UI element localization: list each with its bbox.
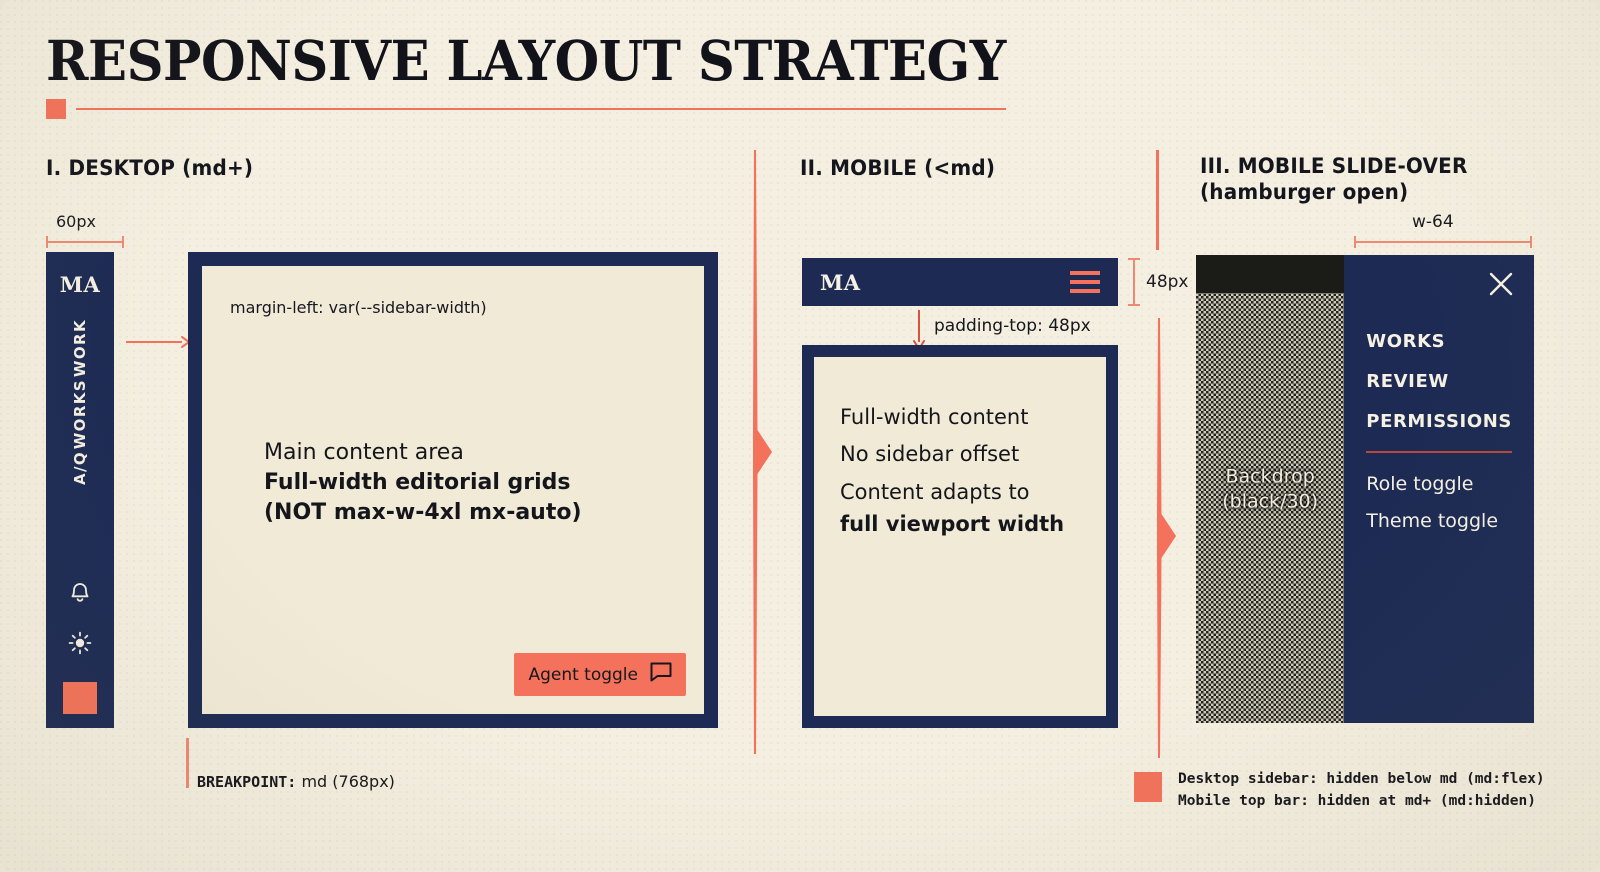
breakpoint-tick (186, 738, 189, 788)
section-heading-desktop: I. DESKTOP (md+) (46, 155, 253, 181)
measure-bar-drawer-width (1354, 236, 1532, 248)
arrow-sidebar-to-content (126, 335, 190, 349)
close-icon[interactable] (1488, 271, 1514, 302)
drawer-separator (1366, 451, 1512, 453)
bell-icon[interactable] (69, 580, 91, 609)
backdrop-label-line2: (black/30) (1196, 489, 1344, 514)
hamburger-icon[interactable] (1070, 271, 1100, 293)
divider-desktop-mobile (748, 150, 778, 759)
margin-left-note: margin-left: var(--sidebar-width) (230, 298, 676, 317)
title-divider-line (76, 108, 1006, 110)
mobile-content-line-3: Content adapts to (840, 474, 1080, 511)
legend-color-swatch (1134, 772, 1162, 802)
legend: Desktop sidebar: hidden below md (md:fle… (1134, 768, 1545, 813)
measure-cap-left (46, 236, 48, 248)
role-toggle[interactable]: Role toggle (1366, 473, 1512, 495)
main-content-line-3: (NOT max-w-4xl mx-auto) (264, 498, 582, 528)
mobile-content-frame: Full-width content No sidebar offset Con… (802, 345, 1118, 728)
legend-text: Desktop sidebar: hidden below md (md:fle… (1178, 768, 1545, 813)
slideover-backdrop[interactable]: Backdrop (black/30) (1196, 255, 1344, 723)
agent-toggle-button[interactable]: Agent toggle (514, 653, 686, 696)
hamburger-bar (1070, 289, 1100, 293)
mobile-slideover: Backdrop (black/30) WORKS REVIEW PERMISS… (1196, 255, 1534, 723)
breakpoint-annotation: BREAKPOINT: md (768px) (197, 772, 395, 791)
measure-cap-right (122, 236, 124, 248)
sun-icon[interactable] (68, 631, 92, 660)
sidebar-accent-square[interactable] (63, 682, 97, 714)
measure-cap-top (1128, 258, 1140, 260)
title-accent-square (46, 99, 66, 119)
infographic-canvas: RESPONSIVE LAYOUT STRATEGY I. DESKTOP (m… (0, 0, 1600, 872)
breakpoint-label: BREAKPOINT: (197, 773, 296, 791)
main-content-block: Main content area Full-width editorial g… (264, 438, 582, 528)
measure-cap-bottom (1128, 304, 1140, 306)
desktop-sidebar[interactable]: MA WORK WORKS A/Q (46, 252, 114, 728)
sidebar-item-aq[interactable]: A/Q (71, 451, 89, 485)
measure-bar-sidebar-width (46, 236, 124, 248)
desktop-main-content: margin-left: var(--sidebar-width) Main c… (202, 266, 704, 714)
legend-line-2: Mobile top bar: hidden at md+ (md:hidden… (1178, 790, 1545, 812)
hamburger-bar (1070, 280, 1100, 284)
slideover-drawer: WORKS REVIEW PERMISSIONS Role toggle The… (1344, 255, 1534, 723)
sidebar-icon-group (63, 580, 97, 714)
mobile-content-line-1: Full-width content (840, 399, 1080, 436)
main-content-line-2: Full-width editorial grids (264, 468, 582, 498)
measure-bar-line (46, 241, 124, 243)
section-heading-mobile: II. MOBILE (<md) (800, 155, 995, 181)
drawer-nav-item-permissions[interactable]: PERMISSIONS (1366, 411, 1512, 432)
page-title: RESPONSIVE LAYOUT STRATEGY (46, 28, 1006, 93)
section-heading-slideover-line1: III. MOBILE SLIDE-OVER (1200, 153, 1514, 179)
backdrop-solid-top (1196, 255, 1344, 293)
divider-mobile-slideover (1152, 318, 1182, 763)
measure-label-sidebar-width: 60px (56, 212, 96, 231)
sidebar-logo: MA (60, 272, 101, 297)
title-rule (46, 98, 1006, 120)
measure-bar-topbar-height (1128, 258, 1140, 306)
mobile-logo: MA (820, 270, 861, 295)
measure-bar-line (1133, 258, 1135, 306)
legend-line-1: Desktop sidebar: hidden below md (md:fle… (1178, 768, 1545, 790)
mobile-content: Full-width content No sidebar offset Con… (814, 357, 1106, 716)
mobile-content-line-4: full viewport width (840, 511, 1080, 538)
desktop-main-frame: margin-left: var(--sidebar-width) Main c… (188, 252, 718, 728)
backdrop-label-line1: Backdrop (1196, 464, 1344, 489)
sidebar-item-works[interactable]: WORKS (71, 379, 89, 449)
measure-label-topbar-height: 48px (1146, 272, 1188, 292)
arrow-padding-top (912, 310, 926, 350)
drawer-nav-item-works[interactable]: WORKS (1366, 331, 1512, 352)
sidebar-item-work[interactable]: WORK (71, 319, 89, 377)
chat-bubble-icon (650, 662, 672, 687)
section-heading-slideover-line2: (hamburger open) (1200, 179, 1514, 205)
measure-cap-right (1530, 236, 1532, 248)
theme-toggle[interactable]: Theme toggle (1366, 510, 1512, 532)
breakpoint-value: md (768px) (301, 772, 394, 791)
backdrop-label: Backdrop (black/30) (1196, 464, 1344, 513)
measure-bar-line (1354, 241, 1532, 243)
drawer-toggle-group: Role toggle Theme toggle (1366, 473, 1512, 532)
divider-mobile-slideover-upper (1152, 150, 1162, 255)
measure-cap-left (1354, 236, 1356, 248)
drawer-nav: WORKS REVIEW PERMISSIONS (1366, 331, 1512, 432)
mobile-top-bar[interactable]: MA (802, 258, 1118, 306)
drawer-nav-item-review[interactable]: REVIEW (1366, 371, 1512, 392)
section-heading-slideover: III. MOBILE SLIDE-OVER (hamburger open) (1200, 153, 1514, 206)
padding-top-note: padding-top: 48px (934, 316, 1091, 336)
hamburger-bar (1070, 271, 1100, 275)
agent-toggle-label: Agent toggle (528, 665, 638, 685)
main-content-line-1: Main content area (264, 438, 582, 468)
measure-label-drawer-width: w-64 (1412, 212, 1454, 232)
mobile-content-line-2: No sidebar offset (840, 436, 1080, 473)
sidebar-nav: WORK WORKS A/Q (71, 319, 89, 485)
